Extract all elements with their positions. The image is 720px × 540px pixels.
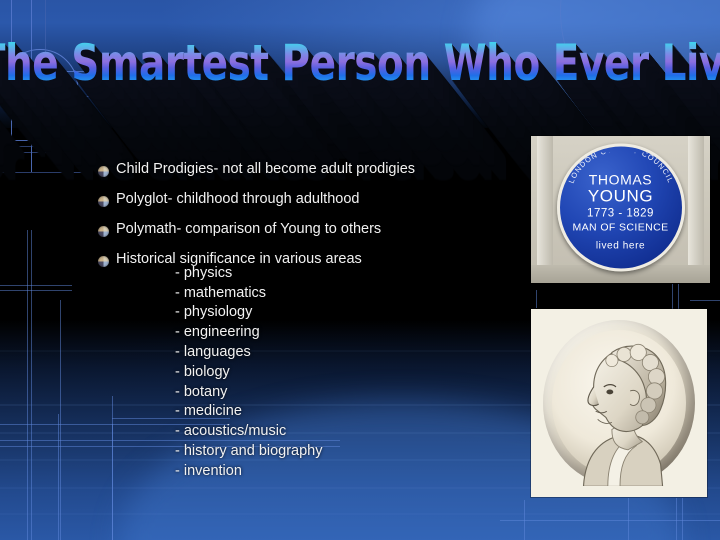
picture-bullet-icon <box>98 226 109 237</box>
blueprint-line-horizontal <box>0 146 88 147</box>
blueprint-line-vertical <box>88 140 89 172</box>
svg-text:LONDON COUNTY COUNCIL: LONDON COUNTY COUNCIL <box>566 152 675 184</box>
blueprint-line-horizontal <box>500 520 720 521</box>
content-body: Child Prodigies- not all become adult pr… <box>98 162 528 482</box>
blueprint-line-horizontal <box>0 285 72 286</box>
blueprint-line-vertical <box>672 284 673 310</box>
sub-list-item: - physiology <box>175 303 528 323</box>
picture-bullet-icon <box>98 166 109 177</box>
wall-column-left <box>537 136 553 283</box>
sub-list-item: - history and biography <box>175 442 528 462</box>
slide-canvas: or "The Smartest Person Who Ever Lived?"… <box>0 0 720 540</box>
blue-plaque-photo: LONDON COUNTY COUNCIL THOMAS YOUNG 1773 … <box>531 136 710 283</box>
picture-bullet-icon <box>98 196 109 207</box>
sub-list-item: - mathematics <box>175 284 528 304</box>
blueprint-line-vertical <box>678 284 679 310</box>
sub-list-item: - acoustics/music <box>175 422 528 442</box>
sub-list-item: - medicine <box>175 402 528 422</box>
sub-list-item: - botany <box>175 383 528 403</box>
plaque-role: MAN OF SCIENCE <box>572 222 668 234</box>
background-scanline <box>0 513 720 515</box>
plaque-dates: 1773 - 1829 <box>587 208 654 220</box>
sub-list-item: - biology <box>175 363 528 383</box>
plaque-name-line2: YOUNG <box>588 187 653 205</box>
plaque-council-arc: LONDON COUNTY COUNCIL <box>561 152 681 186</box>
list-item: Polyglot- childhood through adulthood <box>98 192 528 208</box>
sub-list-item: - languages <box>175 343 528 363</box>
list-item-label: Historical significance in various areas <box>116 252 362 268</box>
wall-column-right <box>688 136 704 283</box>
sub-list-item: - invention <box>175 462 528 482</box>
plaque-council-text: LONDON COUNTY COUNCIL <box>566 152 675 184</box>
medallion-disc <box>543 320 695 486</box>
blueprint-line-vertical <box>27 230 28 540</box>
picture-bullet-icon <box>98 256 109 267</box>
page-title: or "The Smartest Person Who Ever Lived?" <box>0 35 720 93</box>
blueprint-line-horizontal <box>690 300 720 301</box>
blueprint-line-vertical <box>628 498 629 540</box>
sub-list-item: - engineering <box>175 323 528 343</box>
blueprint-line-vertical <box>31 230 32 540</box>
list-item: Child Prodigies- not all become adult pr… <box>98 162 528 178</box>
blueprint-line-vertical <box>60 300 61 540</box>
list-item-label: Polymath- comparison of Young to others <box>116 222 381 238</box>
blueprint-line-vertical <box>676 498 677 540</box>
portrait-medallion-photo <box>531 309 707 497</box>
title-area: or "The Smartest Person Who Ever Lived?" <box>0 14 720 114</box>
list-item-label: Child Prodigies- not all become adult pr… <box>116 162 415 178</box>
blueprint-line-horizontal <box>0 152 46 153</box>
blueprint-line-horizontal <box>0 290 72 291</box>
plaque-lived-here: lived here <box>596 241 645 252</box>
sub-list: - physics - mathematics - physiology - e… <box>175 264 528 482</box>
blueprint-line-horizontal <box>0 172 90 173</box>
blueprint-line-vertical <box>536 290 537 308</box>
blueprint-line-vertical <box>682 498 683 540</box>
blueprint-line-horizontal <box>0 140 88 141</box>
blue-plaque-disc: LONDON COUNTY COUNCIL THOMAS YOUNG 1773 … <box>557 143 685 271</box>
profile-portrait-icon <box>549 324 691 486</box>
list-item-label: Polyglot- childhood through adulthood <box>116 192 359 208</box>
blueprint-line-vertical <box>58 414 59 540</box>
list-item: Polymath- comparison of Young to others <box>98 222 528 238</box>
